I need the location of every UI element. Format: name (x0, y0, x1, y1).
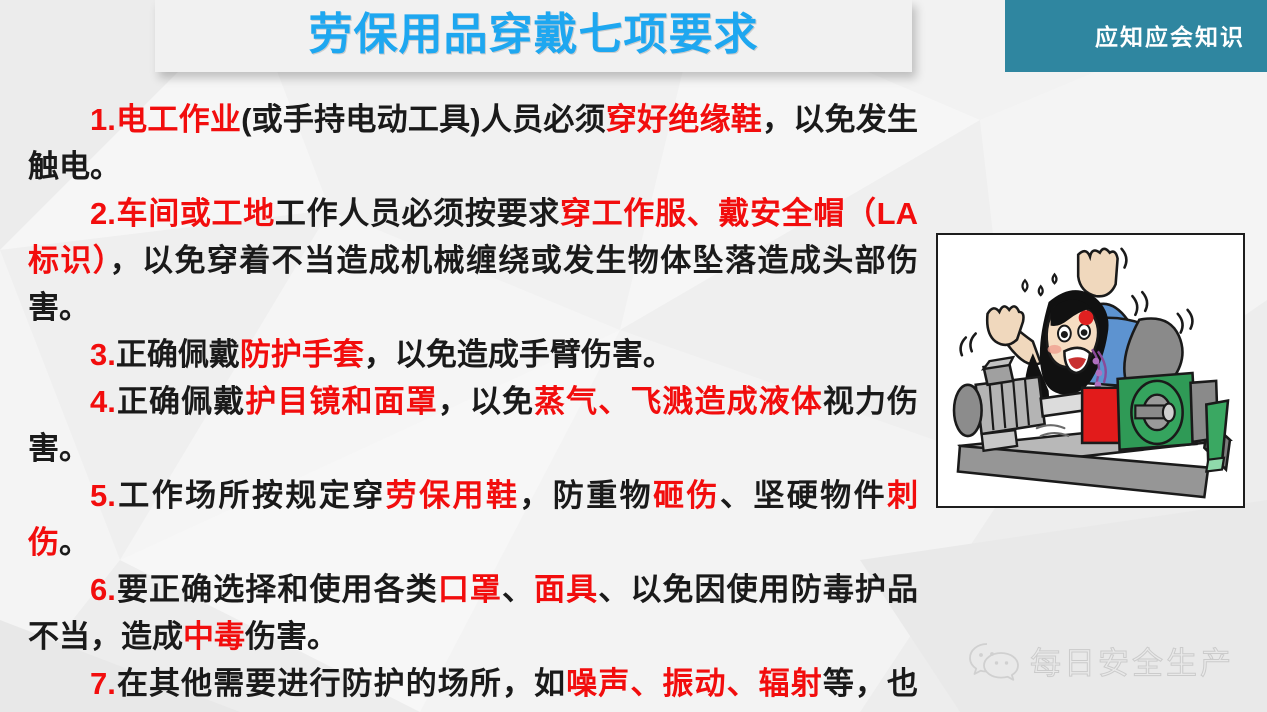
requirements-list: 1.电工作业(或手持电动工具)人员必须穿好绝缘鞋，以免发生触电。 2.车间或工地… (28, 96, 918, 712)
requirement-item-1: 1.电工作业(或手持电动工具)人员必须穿好绝缘鞋，以免发生触电。 (28, 96, 918, 190)
requirement-item-3: 3.正确佩戴防护手套，以免造成手臂伤害。 (28, 331, 918, 378)
corner-badge-label: 应知应会知识 (1095, 0, 1245, 72)
watermark-label: 每日安全生产 (1030, 638, 1234, 683)
safety-illustration (936, 233, 1245, 508)
wechat-icon (968, 640, 1020, 682)
requirement-item-7: 7.在其他需要进行防护的场所，如噪声、振动、辐射等，也要正确佩戴和使用劳动防护用… (28, 660, 918, 712)
requirement-item-4: 4.正确佩戴护目镜和面罩，以免蒸气、飞溅造成液体视力伤害。 (28, 378, 918, 472)
requirement-item-6: 6.要正确选择和使用各类口罩、面具、以免因使用防毒护品不当，造成中毒伤害。 (28, 566, 918, 660)
page-title: 劳保用品穿戴七项要求 (155, 6, 912, 64)
hair-caught-in-lathe-icon (938, 235, 1243, 506)
corner-badge: 应知应会知识 (1005, 0, 1267, 72)
requirement-item-2: 2.车间或工地工作人员必须按要求穿工作服、戴安全帽（LA标识），以免穿着不当造成… (28, 190, 918, 331)
requirement-item-5: 5.工作场所按规定穿劳保用鞋，防重物砸伤、坚硬物件刺伤。 (28, 472, 918, 566)
slide-root: 劳保用品穿戴七项要求 应知应会知识 1.电工作业(或手持电动工具)人员必须穿好绝… (0, 0, 1267, 712)
watermark: 每日安全生产 (968, 638, 1234, 683)
title-plaque: 劳保用品穿戴七项要求 (155, 0, 912, 72)
